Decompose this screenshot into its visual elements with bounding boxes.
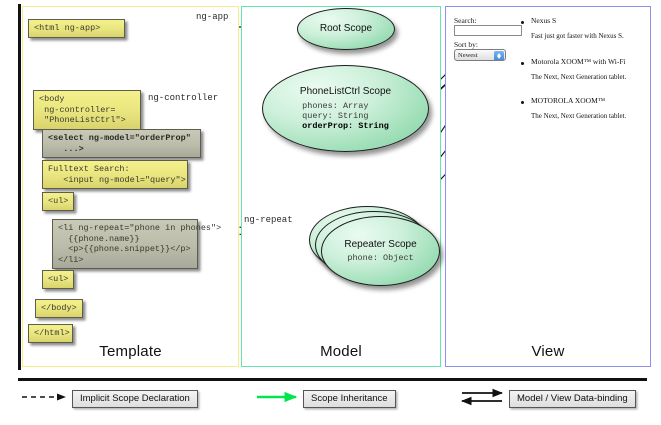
legend-model-view-data-binding: Model / View Data-binding	[509, 390, 636, 408]
legend-scope-inheritance: Scope Inheritance	[303, 390, 396, 408]
diagram-canvas: Template <html ng-app> <body ng-controll…	[0, 0, 661, 425]
legend-implicit-scope-declaration: Implicit Scope Declaration	[72, 390, 198, 408]
legend-arrow-layer	[0, 0, 661, 425]
